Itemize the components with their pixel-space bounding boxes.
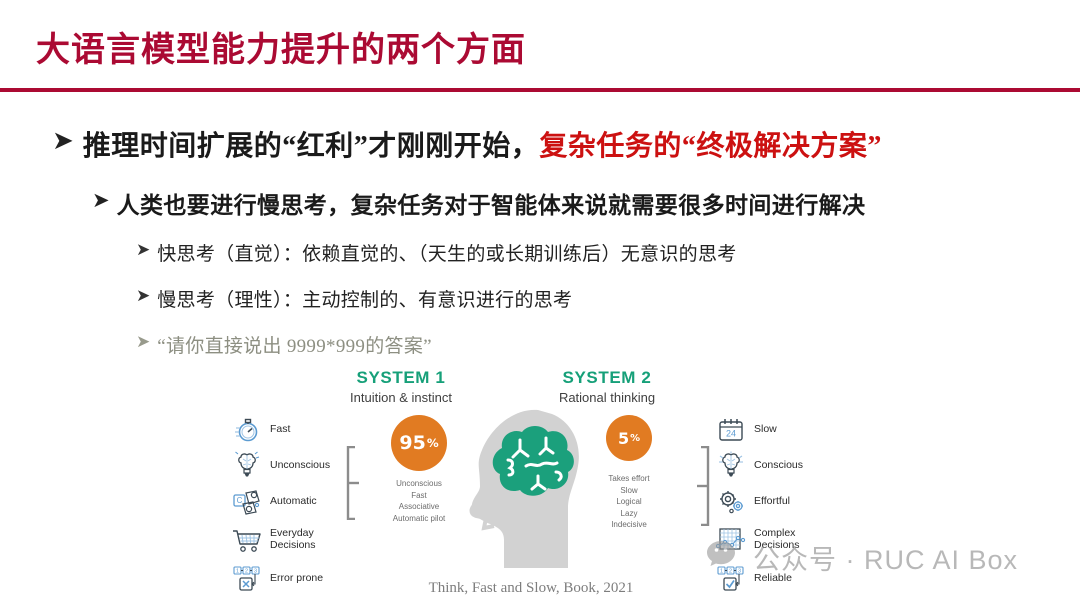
system1-subtitle: Intuition & instinct: [316, 390, 486, 405]
system2-percent-badge: 5%: [606, 415, 652, 461]
list-item: Unconscious: [230, 448, 350, 483]
shopping-cart-icon: [230, 524, 264, 556]
slide-canvas: 大语言模型能力提升的两个方面 ➤ 推理时间扩展的“红利”才刚刚开始，复杂任务的“…: [0, 0, 1080, 607]
list-item: Fast: [230, 412, 350, 447]
list-item-label: Everyday Decisions: [270, 528, 316, 552]
bullet-level3-item: ➤ 慢思考（理性）：主动控制的、有意识进行的思考: [136, 285, 1080, 312]
system2-percent-value: 5: [618, 429, 629, 448]
list-item-label: Complex Decisions: [754, 528, 800, 552]
list-item-label: Fast: [270, 424, 290, 436]
system1-trait-list: Fast Unconscious: [230, 412, 350, 597]
bullet-list: ➤ 推理时间扩展的“红利”才刚刚开始，复杂任务的“终极解决方案” ➤ 人类也要进…: [0, 120, 1080, 358]
svg-text:3: 3: [254, 568, 257, 574]
head-brain-figure: [460, 408, 588, 568]
gears-icon: [714, 486, 748, 518]
list-item-label: Unconscious: [270, 460, 330, 472]
brain-bulb-icon: [230, 450, 264, 482]
svg-text:C: C: [237, 496, 243, 505]
system2-traits: Takes effort Slow Logical Lazy Indecisiv…: [574, 473, 684, 531]
system1-percent-value: 95: [399, 432, 425, 454]
list-item: Conscious: [714, 448, 834, 483]
head-silhouette-icon: [460, 408, 588, 568]
list-item-label: Effortful: [754, 496, 790, 508]
bullet-level3-item: ➤ 快思考（直觉）：依赖直觉的、（天生的或长期训练后）无意识的思考: [136, 239, 1080, 266]
bullet-level1: ➤ 推理时间扩展的“红利”才刚刚开始，复杂任务的“终极解决方案”: [52, 124, 1080, 164]
title-divider: [0, 88, 1080, 92]
list-item-label: Automatic: [270, 496, 317, 508]
list-item-label: Slow: [754, 424, 777, 436]
list-item: Effortful: [714, 484, 834, 519]
calendar-icon: 24: [714, 414, 748, 446]
system1-name: SYSTEM 1: [316, 368, 486, 388]
system1-group-bracket: [346, 446, 366, 525]
system1-traits: Unconscious Fast Associative Automatic p…: [364, 478, 474, 524]
bullet-level3-item: ➤ “请你直接说出 9999*999的答案”: [136, 331, 1080, 358]
system2-group-bracket: [690, 446, 710, 531]
gears-cards-icon: C: [230, 486, 264, 518]
grid-network-icon: [714, 524, 748, 556]
bullet-marker-icon: ➤: [92, 190, 110, 211]
percent-sign: %: [630, 433, 640, 444]
svg-text:24: 24: [726, 428, 736, 438]
bullet-level1-highlight: 复杂任务的“终极解决方案”: [539, 131, 882, 162]
bullet-marker-icon: ➤: [52, 128, 74, 154]
system1-heading: SYSTEM 1 Intuition & instinct: [316, 368, 486, 405]
system2-name: SYSTEM 2: [522, 368, 692, 388]
bullet-level3-text: “请你直接说出 9999*999的答案”: [157, 331, 1080, 358]
system2-trait-list: 24 Slow: [714, 412, 834, 597]
bullet-level2-text: 人类也要进行慢思考，复杂任务对于智能体来说就需要很多时间进行解决: [117, 186, 1080, 220]
bullet-marker-icon: ➤: [136, 288, 150, 305]
bullet-level3-text: 慢思考（理性）：主动控制的、有意识进行的思考: [157, 285, 1080, 312]
list-item: C Automatic: [230, 484, 350, 519]
bullet-level2: ➤ 人类也要进行慢思考，复杂任务对于智能体来说就需要很多时间进行解决: [92, 186, 1080, 220]
page-title: 大语言模型能力提升的两个方面: [36, 22, 526, 71]
stopwatch-icon: [230, 414, 264, 446]
list-item: Everyday Decisions: [230, 520, 350, 560]
bullet-level1-text: 推理时间扩展的“红利”才刚刚开始，复杂任务的“终极解决方案”: [83, 124, 1080, 164]
source-caption-text: Think, Fast and Slow, Book, 2021: [429, 580, 634, 596]
svg-text:2: 2: [729, 568, 732, 574]
bullet-level1-plain: 推理时间扩展的“红利”才刚刚开始，: [83, 131, 540, 162]
list-item-label: Conscious: [754, 460, 803, 472]
percent-sign: %: [427, 436, 439, 450]
system1-percent-badge: 95%: [391, 415, 447, 471]
list-item: Complex Decisions: [714, 520, 834, 560]
list-item: 24 Slow: [714, 412, 834, 447]
thinking-systems-infographic: SYSTEM 1 Intuition & instinct SYSTEM 2 R…: [228, 368, 856, 573]
system2-subtitle: Rational thinking: [522, 390, 692, 405]
brain-bulb-icon: [714, 450, 748, 482]
system2-heading: SYSTEM 2 Rational thinking: [522, 368, 692, 405]
bullet-level3-text: 快思考（直觉）：依赖直觉的、（天生的或长期训练后）无意识的思考: [157, 239, 1080, 266]
bullet-marker-icon: ➤: [136, 334, 150, 351]
svg-text:2: 2: [245, 568, 248, 574]
svg-text:1: 1: [236, 568, 239, 574]
bullet-marker-icon: ➤: [136, 242, 150, 259]
source-caption: Think, Fast and Slow, Book, 2021: [0, 580, 1080, 597]
svg-text:1: 1: [720, 568, 723, 574]
svg-text:3: 3: [738, 568, 741, 574]
